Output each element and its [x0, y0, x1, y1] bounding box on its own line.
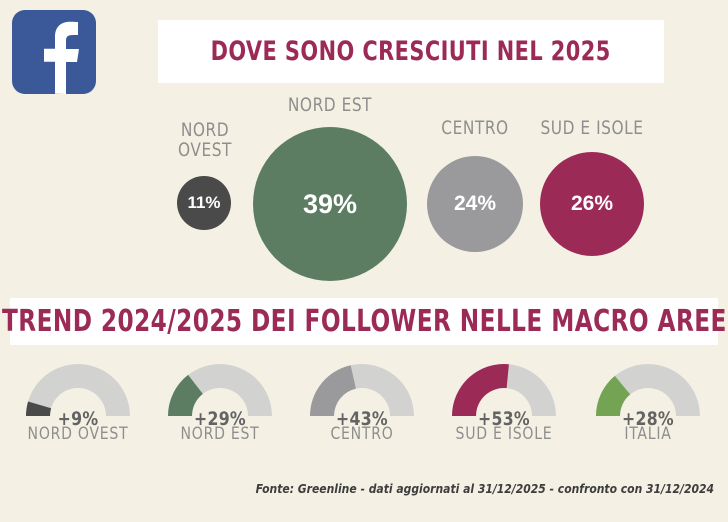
bubble-label-nord-ovest: NORD OVEST — [167, 120, 243, 160]
gauge-nord-est: +29%NORD EST — [150, 360, 290, 444]
banner-two-text: TREND 2024/2025 DEI FOLLOWER NELLE MACRO… — [2, 304, 727, 339]
gauge-label: SUD E ISOLE — [440, 424, 569, 444]
gauge-sud-e-isole: +53%SUD E ISOLE — [434, 360, 574, 444]
bubble-centro: 24% — [427, 156, 523, 252]
gauge-chart: +9%NORD OVEST+29%NORD EST+43%CENTRO+53%S… — [0, 360, 728, 470]
bubble-label-nord-est: NORD EST — [274, 95, 386, 115]
bubble-label-sud-e-isole: SUD E ISOLE — [534, 118, 649, 138]
gauge-label: NORD EST — [156, 424, 285, 444]
gauge-centro: +43%CENTRO — [292, 360, 432, 444]
gauge-nord-ovest: +9%NORD OVEST — [8, 360, 148, 444]
bubble-chart: NORD OVESTNORD ESTCENTROSUD E ISOLE11%39… — [0, 95, 728, 285]
bubble-nord-ovest: 11% — [177, 176, 231, 230]
facebook-icon — [12, 10, 96, 94]
bubble-label-centro: CENTRO — [421, 118, 529, 138]
bubble-sud-e-isole: 26% — [540, 152, 644, 256]
banner-title-top: DOVE SONO CRESCIUTI NEL 2025 — [158, 20, 664, 83]
gauge-italia: +28%ITALIA — [578, 360, 718, 444]
source-note: Fonte: Greenline - dati aggiornati al 31… — [256, 482, 714, 496]
gauge-label: NORD OVEST — [14, 424, 143, 444]
gauge-label: CENTRO — [298, 424, 427, 444]
banner-title-bottom: TREND 2024/2025 DEI FOLLOWER NELLE MACRO… — [10, 298, 718, 345]
bubble-nord-est: 39% — [253, 127, 407, 281]
banner-one-text: DOVE SONO CRESCIUTI NEL 2025 — [211, 36, 611, 67]
gauge-label: ITALIA — [584, 424, 713, 444]
infographic-canvas: DOVE SONO CRESCIUTI NEL 2025 NORD OVESTN… — [0, 0, 728, 522]
